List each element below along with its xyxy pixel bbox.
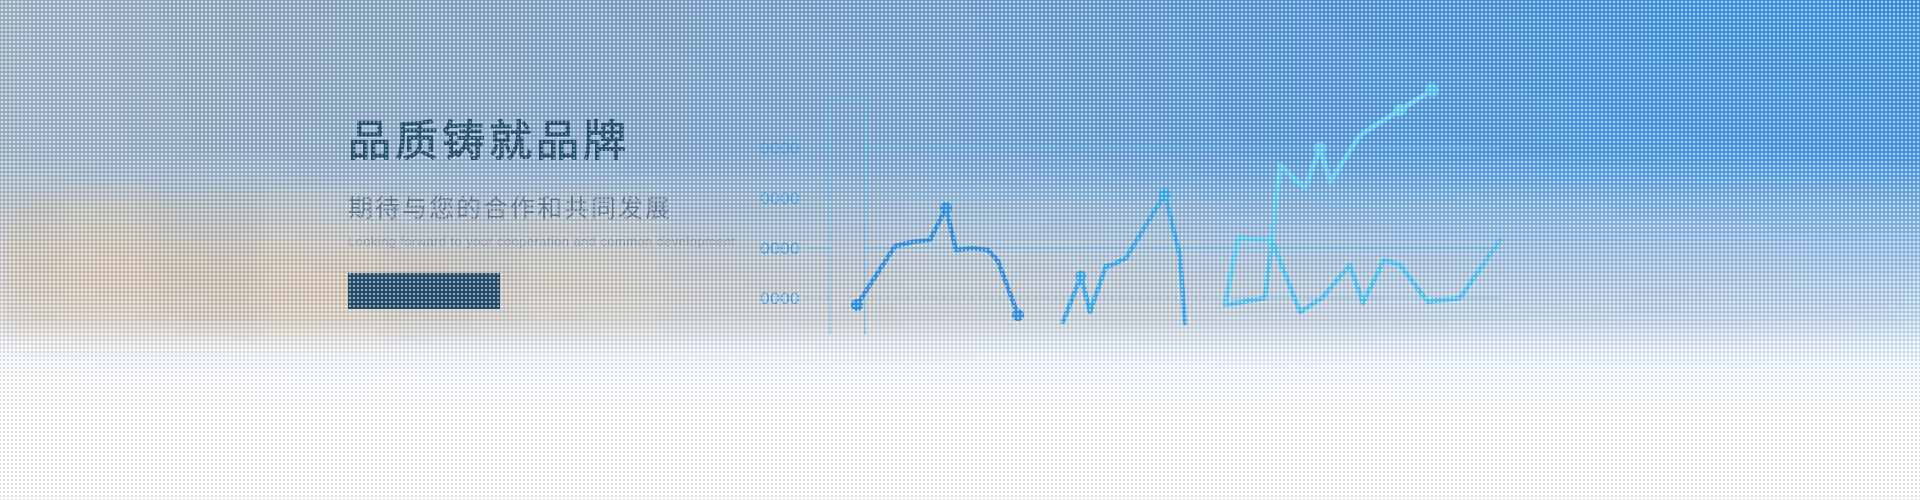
data-point-marker bbox=[1159, 188, 1171, 200]
series-segment-2 bbox=[1063, 194, 1185, 323]
data-point-marker bbox=[1425, 83, 1439, 97]
data-point-marker bbox=[1076, 271, 1087, 282]
series-segment-1 bbox=[857, 208, 1018, 315]
data-point-marker bbox=[1314, 142, 1326, 154]
hero-subtitle-english: Looking forward to your cooperation and … bbox=[348, 234, 768, 249]
data-point-marker bbox=[1012, 309, 1024, 321]
cta-button[interactable] bbox=[348, 273, 500, 309]
data-point-marker bbox=[1394, 104, 1406, 116]
line-chart: 100000 80000 60000 40000 bbox=[760, 60, 1910, 360]
page-title: 品质铸就品牌 bbox=[348, 118, 768, 167]
chart-svg: 100000 80000 60000 40000 bbox=[760, 60, 1910, 360]
hero-banner: 100000 80000 60000 40000 bbox=[0, 0, 1920, 500]
chart-gridlines-right bbox=[1110, 148, 1500, 298]
data-point-marker bbox=[940, 202, 952, 214]
chart-gridlines bbox=[805, 148, 1500, 298]
series-segment-3 bbox=[1225, 240, 1500, 312]
hero-subtitle: 期待与您的合作和共同发展 bbox=[348, 189, 768, 225]
data-point-marker bbox=[851, 299, 863, 311]
hero-copy: 品质铸就品牌 期待与您的合作和共同发展 Looking forward to y… bbox=[348, 118, 768, 309]
